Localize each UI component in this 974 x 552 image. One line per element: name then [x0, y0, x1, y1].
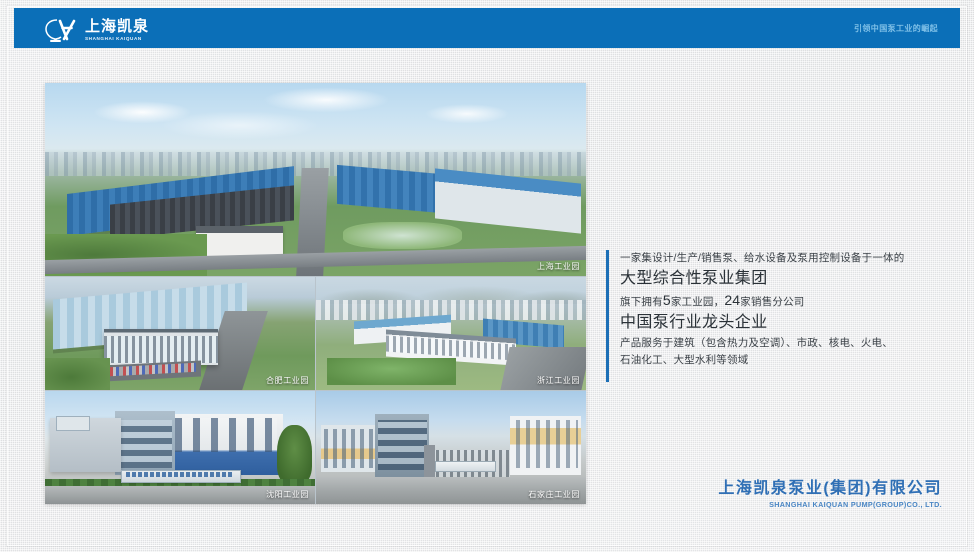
description-line-3: 旗下拥有5家工业园，24家销售分公司: [620, 291, 936, 311]
photo-caption: 沈阳工业园: [266, 489, 309, 500]
brand-logo-text: 上海凯泉 SHANGHAI KAIQUAN: [85, 19, 149, 42]
photo-shenyang-park[interactable]: 沈阳工业园: [45, 391, 315, 504]
photo-caption: 浙江工业园: [537, 375, 580, 386]
photo-shijiazhuang-park[interactable]: 石家庄工业园: [316, 391, 586, 504]
photo-caption: 上海工业园: [537, 261, 580, 272]
company-description-panel: 一家集设计/生产/销售泵、给水设备及泵用控制设备于一体的 大型综合性泵业集团 旗…: [606, 250, 936, 369]
footer-company-name-en: SHANGHAI KAIQUAN PUMP(GROUP)CO., LTD.: [718, 499, 942, 510]
photo-shanghai-park[interactable]: 上海工业园: [45, 83, 586, 276]
industrial-park-photo-collage: 上海工业园 合肥工业园 浙江工业园 沈阳工业园 石家庄工业园: [45, 83, 586, 504]
description-heading-1: 大型综合性泵业集团: [620, 267, 936, 291]
footer-company-logo: 上海凯泉泵业(集团)有限公司 SHANGHAI KAIQUAN PUMP(GRO…: [718, 480, 942, 510]
parks-prefix: 旗下拥有: [620, 296, 663, 308]
description-line-6: 石油化工、大型水利等领域: [620, 352, 936, 369]
branches-count: 24: [724, 292, 740, 308]
description-line-5: 产品服务于建筑（包含热力及空调）、市政、核电、火电、: [620, 335, 936, 352]
photo-zhejiang-park[interactable]: 浙江工业园: [316, 277, 586, 390]
kaiquan-logo-icon: [44, 18, 78, 42]
presentation-slide: 上海凯泉 SHANGHAI KAIQUAN 引领中国泵工业的崛起 上海工业园 合…: [0, 0, 974, 552]
photo-hefei-park[interactable]: 合肥工业园: [45, 277, 315, 390]
description-lines: 一家集设计/生产/销售泵、给水设备及泵用控制设备于一体的 大型综合性泵业集团 旗…: [620, 250, 936, 369]
description-heading-2: 中国泵行业龙头企业: [620, 311, 936, 335]
header-slogan: 引领中国泵工业的崛起: [854, 8, 938, 48]
footer-company-name-cn: 上海凯泉泵业(集团)有限公司: [718, 480, 942, 498]
branches-suffix: 家销售分公司: [740, 296, 804, 308]
photo-caption: 石家庄工业园: [528, 489, 580, 500]
accent-bar: [606, 250, 609, 382]
photo-caption: 合肥工业园: [266, 375, 309, 386]
parks-count: 5: [663, 292, 671, 308]
brand-name-en: SHANGHAI KAIQUAN: [85, 37, 149, 42]
header-bar: 上海凯泉 SHANGHAI KAIQUAN 引领中国泵工业的崛起: [14, 8, 960, 48]
parks-mid: 家工业园，: [671, 296, 725, 308]
description-line-1: 一家集设计/生产/销售泵、给水设备及泵用控制设备于一体的: [620, 250, 936, 266]
brand-logo[interactable]: 上海凯泉 SHANGHAI KAIQUAN: [44, 18, 149, 42]
brand-name-cn: 上海凯泉: [85, 19, 149, 34]
